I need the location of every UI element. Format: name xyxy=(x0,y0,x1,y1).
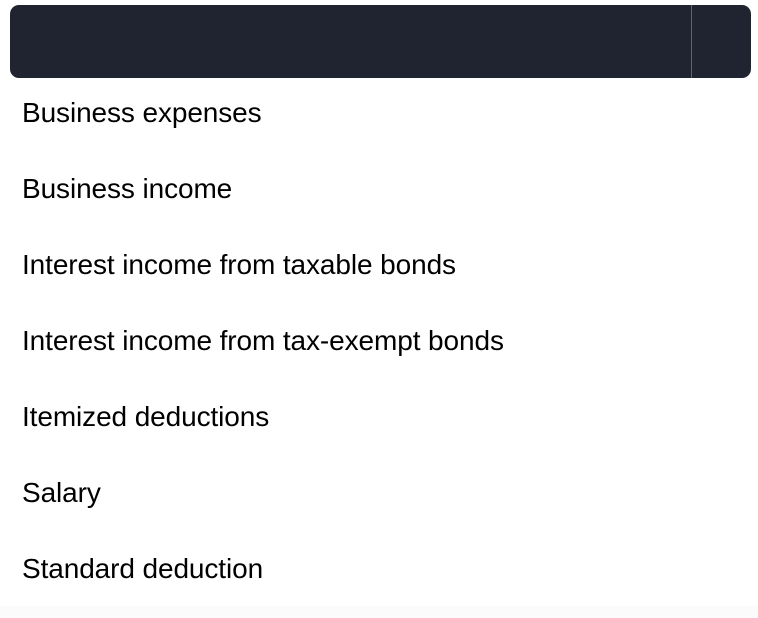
selectable-option-list: Business expenses Business income Intere… xyxy=(0,78,758,606)
list-item-label: Salary xyxy=(22,476,101,510)
list-item-label: Business income xyxy=(22,172,232,206)
list-item[interactable]: Salary xyxy=(0,458,758,534)
list-item-label: Itemized deductions xyxy=(22,400,269,434)
header-right-pane[interactable] xyxy=(692,5,751,78)
list-item[interactable]: Interest income from tax-exempt bonds xyxy=(0,306,758,382)
list-item-label: Interest income from taxable bonds xyxy=(22,248,456,282)
app-root: Business expenses Business income Intere… xyxy=(0,0,758,618)
list-item[interactable]: Business income xyxy=(0,154,758,230)
list-item-label: Standard deduction xyxy=(22,552,263,586)
list-item[interactable]: Standard deduction xyxy=(0,534,758,610)
list-item-label: Business expenses xyxy=(22,96,262,130)
list-item[interactable]: Interest income from taxable bonds xyxy=(0,230,758,306)
header-bar[interactable] xyxy=(10,5,751,78)
list-item[interactable]: Business expenses xyxy=(0,78,758,154)
list-item[interactable]: Itemized deductions xyxy=(0,382,758,458)
list-item-label: Interest income from tax-exempt bonds xyxy=(22,324,504,358)
content-continuation-band xyxy=(0,606,758,618)
header-left-pane[interactable] xyxy=(10,5,691,78)
